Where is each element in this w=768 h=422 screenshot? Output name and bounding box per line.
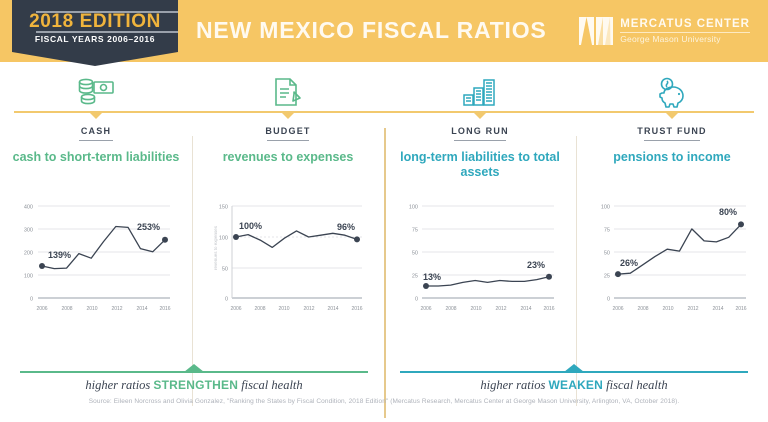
- page-header: 2018 EDITION FISCAL YEARS 2006–2016 NEW …: [0, 0, 768, 62]
- footer-prefix: higher ratios: [480, 378, 548, 392]
- svg-text:75: 75: [412, 228, 418, 234]
- mercatus-logo-university: George Mason University: [620, 34, 750, 44]
- svg-text:2006: 2006: [420, 306, 431, 312]
- piggy-bank-icon: [576, 74, 768, 110]
- svg-text:2014: 2014: [520, 306, 531, 312]
- category-underline: [454, 140, 506, 141]
- svg-text:0: 0: [607, 297, 610, 303]
- end-value-label: 23%: [527, 260, 545, 270]
- center-vertical-divider: [384, 128, 386, 418]
- svg-text:0: 0: [415, 297, 418, 303]
- panel-cash: CASH cash to short-term liabilities 400 …: [0, 62, 192, 362]
- footer-weaken: higher ratios WEAKEN fiscal health: [400, 362, 748, 396]
- footer-strengthen: higher ratios STRENGTHEN fiscal health: [20, 362, 368, 396]
- chart-trust-fund: 100 75 50 25 0 2006 2008 2010 2012 2014 …: [590, 200, 756, 318]
- bar-chart-building-icon: [384, 74, 576, 110]
- mercatus-logo-text: MERCATUS CENTER George Mason University: [620, 18, 750, 44]
- svg-text:2010: 2010: [662, 306, 673, 312]
- end-value-label: 253%: [137, 222, 160, 232]
- svg-text:2012: 2012: [303, 306, 314, 312]
- budget-document-icon: [192, 74, 384, 110]
- footer-prefix: higher ratios: [85, 378, 153, 392]
- svg-text:100: 100: [601, 205, 610, 211]
- edition-badge: 2018 EDITION FISCAL YEARS 2006–2016: [12, 0, 178, 52]
- start-value-label: 13%: [423, 272, 441, 282]
- category-underline: [644, 140, 700, 141]
- panel-divider-rule: [14, 111, 192, 113]
- mercatus-logo-divider: [620, 32, 750, 33]
- svg-text:2012: 2012: [111, 306, 122, 312]
- svg-text:75: 75: [604, 228, 610, 234]
- panel-trust-fund: TRUST FUND pensions to income 100 75 50 …: [576, 62, 768, 362]
- svg-text:2010: 2010: [86, 306, 97, 312]
- footer-emphasis: WEAKEN: [548, 378, 603, 392]
- panel-description-long-run: long-term liabilities to total assets: [390, 150, 570, 180]
- mercatus-logo-name: MERCATUS CENTER: [620, 18, 750, 31]
- svg-text:2006: 2006: [612, 306, 623, 312]
- svg-text:2010: 2010: [278, 306, 289, 312]
- svg-text:100: 100: [409, 205, 418, 211]
- svg-text:2012: 2012: [495, 306, 506, 312]
- source-citation: Source: Eileen Norcross and Olivia Gonza…: [0, 398, 768, 405]
- cash-stack-icon: [0, 74, 192, 110]
- chart-long-run: 100 75 50 25 0 2006 2008 2010 2012 2014 …: [398, 200, 564, 318]
- footer-suffix: fiscal health: [603, 378, 668, 392]
- data-point-end: [162, 237, 168, 243]
- panel-description-cash: cash to short-term liabilities: [6, 150, 186, 165]
- badge-title: 2018 EDITION: [12, 12, 178, 31]
- svg-text:2008: 2008: [637, 306, 648, 312]
- panel-arrow-icon: [665, 112, 679, 119]
- svg-text:2010: 2010: [470, 306, 481, 312]
- panel-category-cash: CASH: [0, 126, 192, 136]
- data-point-end: [546, 274, 552, 280]
- svg-text:400: 400: [24, 205, 33, 211]
- panels-container: CASH cash to short-term liabilities 400 …: [0, 62, 768, 362]
- svg-text:2014: 2014: [327, 306, 338, 312]
- panel-long-run: LONG RUN long-term liabilities to total …: [384, 62, 576, 362]
- footer-text-strengthen: higher ratios STRENGTHEN fiscal health: [20, 378, 368, 393]
- panel-budget: BUDGET revenues to expenses 150 100 50 0…: [192, 62, 384, 362]
- chart-budget: 150 100 50 0 revenues to expenses 2006 2…: [206, 200, 372, 318]
- svg-text:2016: 2016: [735, 306, 746, 312]
- data-point-start: [39, 263, 45, 269]
- start-value-label: 100%: [239, 221, 262, 231]
- svg-text:100: 100: [219, 236, 228, 242]
- panel-description-trust-fund: pensions to income: [582, 150, 762, 165]
- svg-text:0: 0: [30, 297, 33, 303]
- mercatus-mark-icon: [579, 17, 613, 45]
- panel-category-budget: BUDGET: [192, 126, 384, 136]
- svg-text:0: 0: [225, 297, 228, 303]
- footer-suffix: fiscal health: [238, 378, 303, 392]
- category-underline: [79, 140, 113, 141]
- svg-text:2014: 2014: [712, 306, 723, 312]
- footer-arrow-up-icon: [184, 364, 204, 372]
- footer-emphasis: STRENGTHEN: [153, 378, 238, 392]
- panel-description-budget: revenues to expenses: [198, 150, 378, 165]
- data-point-end: [738, 221, 744, 227]
- svg-text:2008: 2008: [445, 306, 456, 312]
- data-point-start: [423, 283, 429, 289]
- svg-text:2006: 2006: [36, 306, 47, 312]
- footer-arrow-up-icon: [564, 364, 584, 372]
- svg-text:25: 25: [604, 274, 610, 280]
- panel-arrow-icon: [281, 112, 295, 119]
- footer-text-weaken: higher ratios WEAKEN fiscal health: [400, 378, 748, 393]
- svg-text:2016: 2016: [351, 306, 362, 312]
- start-value-label: 139%: [48, 250, 71, 260]
- svg-text:2008: 2008: [254, 306, 265, 312]
- mercatus-logo: MERCATUS CENTER George Mason University: [579, 15, 750, 47]
- data-point-end: [354, 236, 360, 242]
- badge-pointer: [12, 52, 178, 66]
- svg-text:300: 300: [24, 228, 33, 234]
- svg-text:50: 50: [604, 251, 610, 257]
- end-value-label: 96%: [337, 222, 355, 232]
- svg-text:25: 25: [412, 274, 418, 280]
- badge-subtitle: FISCAL YEARS 2006–2016: [12, 34, 178, 44]
- svg-text:2016: 2016: [159, 306, 170, 312]
- data-point-start: [615, 271, 621, 277]
- svg-text:50: 50: [222, 267, 228, 273]
- svg-text:100: 100: [24, 274, 33, 280]
- svg-text:50: 50: [412, 251, 418, 257]
- svg-text:200: 200: [24, 251, 33, 257]
- data-point-start: [233, 234, 239, 240]
- panel-arrow-icon: [473, 112, 487, 119]
- svg-text:2006: 2006: [230, 306, 241, 312]
- svg-text:150: 150: [219, 205, 228, 211]
- category-underline: [267, 140, 309, 141]
- panel-arrow-icon: [89, 112, 103, 119]
- panel-category-trust-fund: TRUST FUND: [576, 126, 768, 136]
- svg-text:2008: 2008: [61, 306, 72, 312]
- chart-y-axis-label: revenues to expenses: [213, 225, 218, 270]
- panel-category-long-run: LONG RUN: [384, 126, 576, 136]
- page-title: NEW MEXICO FISCAL RATIOS: [196, 17, 547, 44]
- chart-cash: 400 300 200 100 0 2006 2008 2010 2012 20…: [14, 200, 180, 318]
- svg-text:2016: 2016: [543, 306, 554, 312]
- svg-text:2014: 2014: [136, 306, 147, 312]
- svg-text:2012: 2012: [687, 306, 698, 312]
- end-value-label: 80%: [719, 207, 737, 217]
- start-value-label: 26%: [620, 258, 638, 268]
